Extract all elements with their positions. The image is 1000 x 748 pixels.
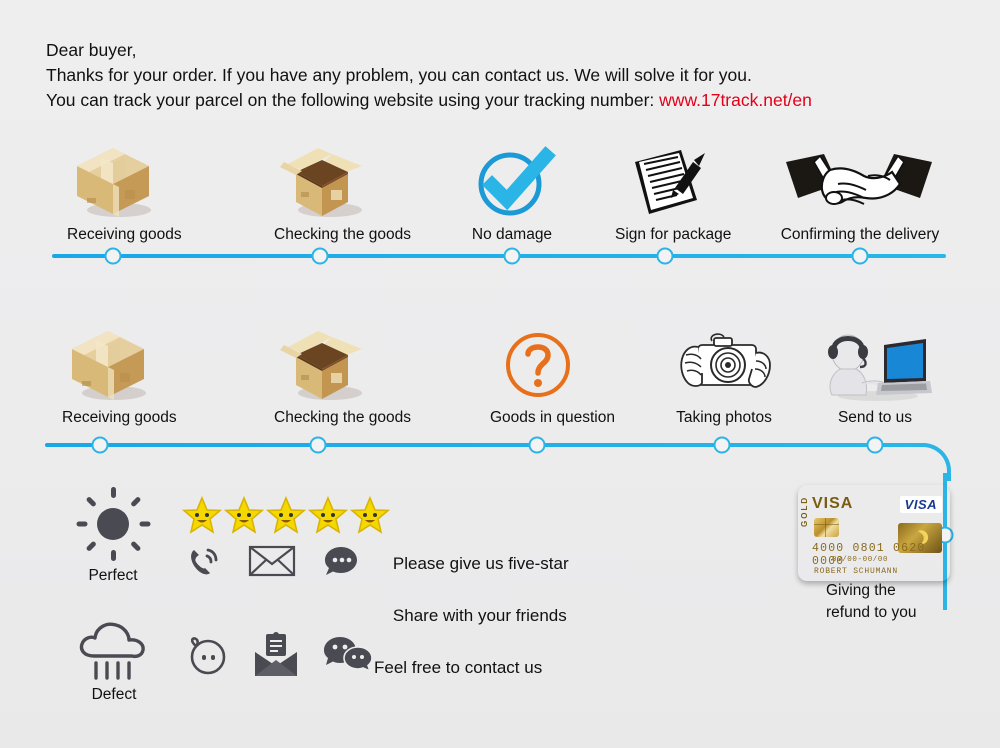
row2-step-checking-goods[interactable]: Checking the goods <box>274 323 370 427</box>
header-block: Dear buyer, Thanks for your order. If yo… <box>46 38 946 113</box>
timeline-node <box>529 437 546 454</box>
sign-document-icon <box>615 140 715 220</box>
rain-cloud-icon <box>74 618 154 684</box>
sun-icon <box>76 487 150 561</box>
perfect-block: Perfect <box>76 487 150 585</box>
step-label: No damage <box>466 226 558 244</box>
step-label: Send to us <box>818 409 932 427</box>
thanks-line: Thanks for your order. If you have any p… <box>46 63 946 88</box>
step-label: Receiving goods <box>67 226 159 244</box>
row2-step-send-to-us[interactable]: Send to us <box>818 323 932 427</box>
visa-logo: VISA <box>900 496 942 513</box>
timeline-node <box>92 437 109 454</box>
open-box-icon <box>274 140 370 220</box>
card-valid-dates: 00/00-00/00 <box>832 556 888 564</box>
timeline-row2 <box>45 443 927 447</box>
five-star-message: Please give us five-star Share with your… <box>374 525 569 655</box>
smiling-star-icon <box>308 495 348 535</box>
perfect-contact-icons <box>184 542 360 580</box>
card-chip-icon <box>814 518 839 537</box>
check-circle-icon <box>466 140 558 220</box>
step-label: Goods in question <box>490 409 586 427</box>
handshake-icon <box>772 140 948 220</box>
support-agent-laptop-icon <box>818 323 932 403</box>
five-star-message-line2: Share with your friends <box>393 606 567 625</box>
smiling-star-icon <box>266 495 306 535</box>
envelope-icon[interactable] <box>248 543 296 579</box>
timeline-node <box>657 248 674 265</box>
row2-step-receiving-goods[interactable]: Receiving goods <box>62 323 154 427</box>
chat-bubble-icon[interactable] <box>322 543 360 579</box>
defect-message: Feel free to contact us <box>374 655 542 681</box>
sun-ray <box>130 496 141 507</box>
tracking-line-text: You can track your parcel on the followi… <box>46 90 659 110</box>
timeline-node <box>867 437 884 454</box>
timeline-node <box>852 248 869 265</box>
step-label: Checking the goods <box>274 409 370 427</box>
timeline-node <box>714 437 731 454</box>
step-label: Checking the goods <box>274 226 370 244</box>
timeline-node <box>105 248 122 265</box>
perfect-label: Perfect <box>76 567 150 585</box>
defect-contact-icons <box>184 632 374 678</box>
row1-step-checking-goods[interactable]: Checking the goods <box>274 140 370 244</box>
step-label: Sign for package <box>615 226 715 244</box>
row1-step-receiving-goods[interactable]: Receiving goods <box>67 140 159 244</box>
timeline-node <box>310 437 327 454</box>
tracking-line: You can track your parcel on the followi… <box>46 88 946 113</box>
refund-label-line2: refund to you <box>826 602 916 624</box>
row1-step-confirming-delivery[interactable]: Confirming the delivery <box>772 140 948 244</box>
timeline-node <box>504 248 521 265</box>
five-star-rating[interactable] <box>182 495 390 535</box>
question-circle-icon <box>490 323 586 403</box>
closed-box-icon <box>67 140 159 220</box>
five-star-message-line1: Please give us five-star <box>393 554 569 573</box>
smiling-star-icon <box>182 495 222 535</box>
refund-label-line1: Giving the <box>826 580 916 602</box>
card-number: 4000 0801 0620 0000 <box>812 542 950 568</box>
step-label: Receiving goods <box>62 409 154 427</box>
defect-label: Defect <box>74 686 154 704</box>
card-holder-name: ROBERT SCHUMANN <box>814 567 898 576</box>
smiley-face-icon[interactable] <box>184 633 230 677</box>
visa-gold-card: VISA GOLD VISA 4000 0801 0620 0000 00/00… <box>798 485 950 581</box>
sun-ray <box>77 522 88 527</box>
row1-step-no-damage[interactable]: No damage <box>466 140 558 244</box>
after-sales-service-card: Dear buyer, Thanks for your order. If yo… <box>0 0 1000 748</box>
step-label: Confirming the delivery <box>772 226 948 244</box>
row2-step-goods-in-question[interactable]: Goods in question <box>490 323 586 427</box>
wechat-bubbles-icon[interactable] <box>322 633 374 677</box>
smiling-star-icon <box>224 495 264 535</box>
timeline-node <box>312 248 329 265</box>
camera-hands-icon <box>672 323 776 403</box>
phone-icon[interactable] <box>184 542 222 580</box>
sun-ray <box>130 541 141 552</box>
open-box-icon <box>274 323 370 403</box>
sun-ray <box>140 522 151 527</box>
greeting-line: Dear buyer, <box>46 38 946 63</box>
defect-block: Defect <box>74 618 154 704</box>
refund-label: Giving the refund to you <box>826 580 916 624</box>
row2-step-taking-photos[interactable]: Taking photos <box>672 323 776 427</box>
sun-ray <box>86 496 97 507</box>
mail-document-icon[interactable] <box>252 632 300 678</box>
closed-box-icon <box>62 323 154 403</box>
tracking-link[interactable]: www.17track.net/en <box>659 90 812 110</box>
row1-step-sign-package[interactable]: Sign for package <box>615 140 715 244</box>
timeline-row1 <box>52 254 946 258</box>
sun-ray <box>111 487 116 498</box>
sun-ray <box>86 541 97 552</box>
step-label: Taking photos <box>672 409 776 427</box>
sun-ray <box>111 550 116 561</box>
card-tier-text: GOLD <box>800 496 809 527</box>
card-brand-text: VISA <box>812 495 853 513</box>
sun-core <box>97 508 129 540</box>
